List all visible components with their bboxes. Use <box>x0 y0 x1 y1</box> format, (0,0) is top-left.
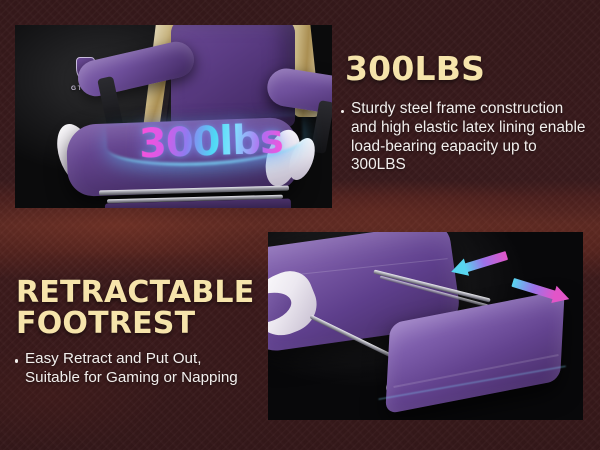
capacity-heading: 300LBS <box>345 52 485 86</box>
list-item: Sturdy steel frame construction and high… <box>340 100 592 175</box>
footrest-heading-line2: FOOTREST <box>16 308 254 339</box>
footrest-extended-photo <box>268 232 583 420</box>
footrest-heading-line1: RETRACTABLE <box>16 277 254 308</box>
product-feature-poster: GTPLAYER 300lbs 300LBS Sturdy steel fram… <box>0 0 600 450</box>
list-item: Easy Retract and Put Out, Suitable for G… <box>14 350 246 387</box>
capacity-bullet-list: Sturdy steel frame construction and high… <box>340 100 592 175</box>
footrest-bullet-list: Easy Retract and Put Out, Suitable for G… <box>14 350 246 387</box>
capacity-overlay-text: 300lbs <box>138 117 283 168</box>
footrest-heading: RETRACTABLE FOOTREST <box>16 277 254 339</box>
chair-capacity-photo: GTPLAYER 300lbs <box>15 25 332 208</box>
retract-arrow-shaft <box>463 251 508 272</box>
